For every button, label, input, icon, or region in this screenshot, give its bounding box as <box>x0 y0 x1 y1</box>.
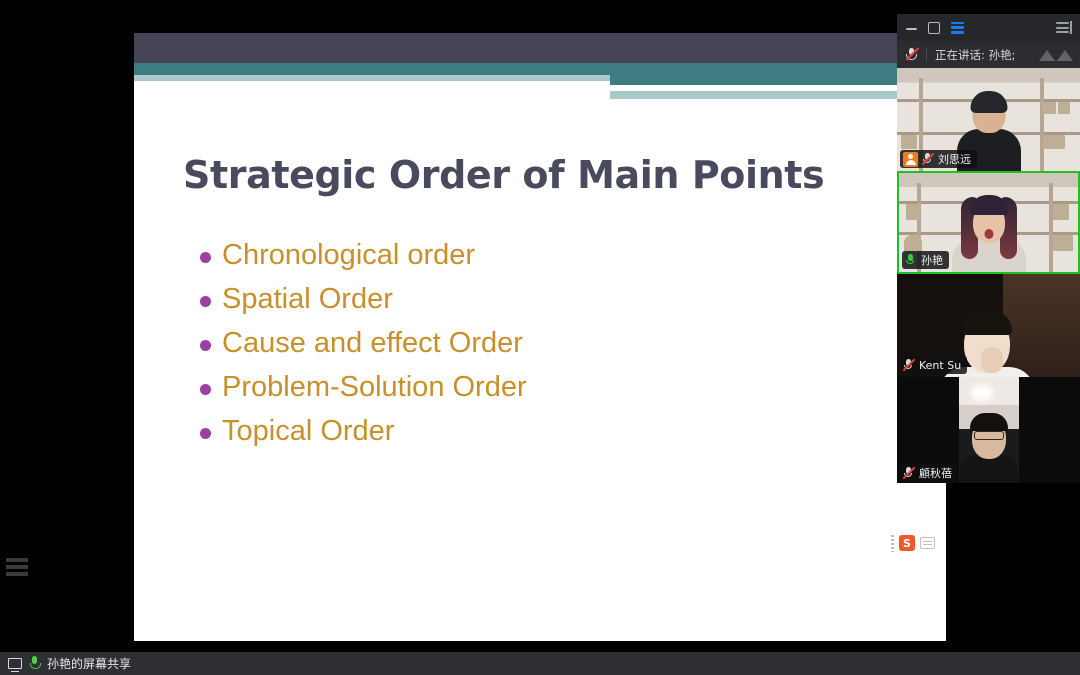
list-item: Spatial Order <box>200 277 900 314</box>
bullet-label: Chronological order <box>222 241 475 270</box>
mic-on-icon <box>29 656 40 671</box>
mic-muted-icon <box>905 47 918 62</box>
bullet-label: Problem-Solution Order <box>222 373 527 402</box>
slide-header-dark-band <box>134 33 946 63</box>
mic-on-icon <box>905 253 917 267</box>
keyboard-icon[interactable] <box>920 537 935 549</box>
participant-avatar <box>959 199 1019 274</box>
bullet-label: Spatial Order <box>222 285 393 314</box>
divider <box>926 48 927 62</box>
slide-header-teal-band <box>134 63 946 75</box>
bullet-dot-icon <box>200 252 211 263</box>
participant-name-badge: 顧秋蓓 <box>900 464 958 482</box>
participant-name-badge: Kent Su <box>900 356 967 374</box>
screen-root: Strategic Order of Main Points Chronolog… <box>0 0 1080 675</box>
video-thumbnail-panel[interactable]: 正在讲话: 孙艳; <box>897 14 1080 483</box>
screen-share-status-bar: 孙艳的屏幕共享 <box>0 652 1080 675</box>
mic-muted-icon <box>903 466 915 480</box>
presentation-slide[interactable]: Strategic Order of Main Points Chronolog… <box>134 33 946 641</box>
participant-name-badge: 孙艳 <box>902 251 949 269</box>
bullet-label: Cause and effect Order <box>222 329 523 358</box>
minimize-icon[interactable] <box>906 22 917 33</box>
video-panel-titlebar[interactable] <box>897 14 1080 41</box>
gallery-view-icon[interactable] <box>951 22 964 34</box>
participant-name-badge: 刘思远 <box>900 150 977 168</box>
drag-handle-icon[interactable] <box>891 535 894 552</box>
collapse-panel-icon[interactable] <box>1056 21 1071 34</box>
active-speaker-bar: 正在讲话: 孙艳; <box>897 41 1080 68</box>
screen-share-icon <box>8 658 22 669</box>
sogou-ime-icon[interactable]: S <box>899 535 915 551</box>
list-item: Topical Order <box>200 409 900 446</box>
bullet-dot-icon <box>200 384 211 395</box>
mic-muted-icon <box>922 152 934 166</box>
list-item: Problem-Solution Order <box>200 365 900 402</box>
bullet-dot-icon <box>200 428 211 439</box>
participant-name: Kent Su <box>919 359 961 372</box>
bullet-dot-icon <box>200 340 211 351</box>
slide-bullet-list: Chronological order Spatial Order Cause … <box>200 233 900 453</box>
list-item: Chronological order <box>200 233 900 270</box>
maximize-icon[interactable] <box>928 22 940 34</box>
bullet-dot-icon <box>200 296 211 307</box>
list-menu-icon[interactable] <box>6 558 28 576</box>
participant-name: 孙艳 <box>921 252 943 268</box>
bullet-label: Topical Order <box>222 417 394 446</box>
participant-tile[interactable]: Kent Su <box>897 274 1080 377</box>
window-controls <box>906 22 964 34</box>
list-item: Cause and effect Order <box>200 321 900 358</box>
slide-accent-bar-light <box>610 91 900 99</box>
participant-name: 顧秋蓓 <box>919 465 952 481</box>
active-speaker-label: 正在讲话: 孙艳; <box>935 47 1015 63</box>
host-icon <box>903 152 918 167</box>
participant-avatar <box>959 301 1019 377</box>
zoom-waveform-logo <box>1039 49 1073 61</box>
slide-accent-bar-teal <box>610 75 946 85</box>
slide-title: Strategic Order of Main Points <box>183 153 903 197</box>
participant-tile[interactable]: 刘思远 <box>897 68 1080 171</box>
mic-muted-icon <box>903 358 915 372</box>
screen-share-label: 孙艳的屏幕共享 <box>47 655 131 672</box>
participant-name: 刘思远 <box>938 151 971 167</box>
participant-tile-active[interactable]: 孙艳 <box>897 171 1080 274</box>
ime-toolbar[interactable]: S <box>891 530 940 556</box>
participant-tile[interactable]: 顧秋蓓 <box>897 377 1080 483</box>
